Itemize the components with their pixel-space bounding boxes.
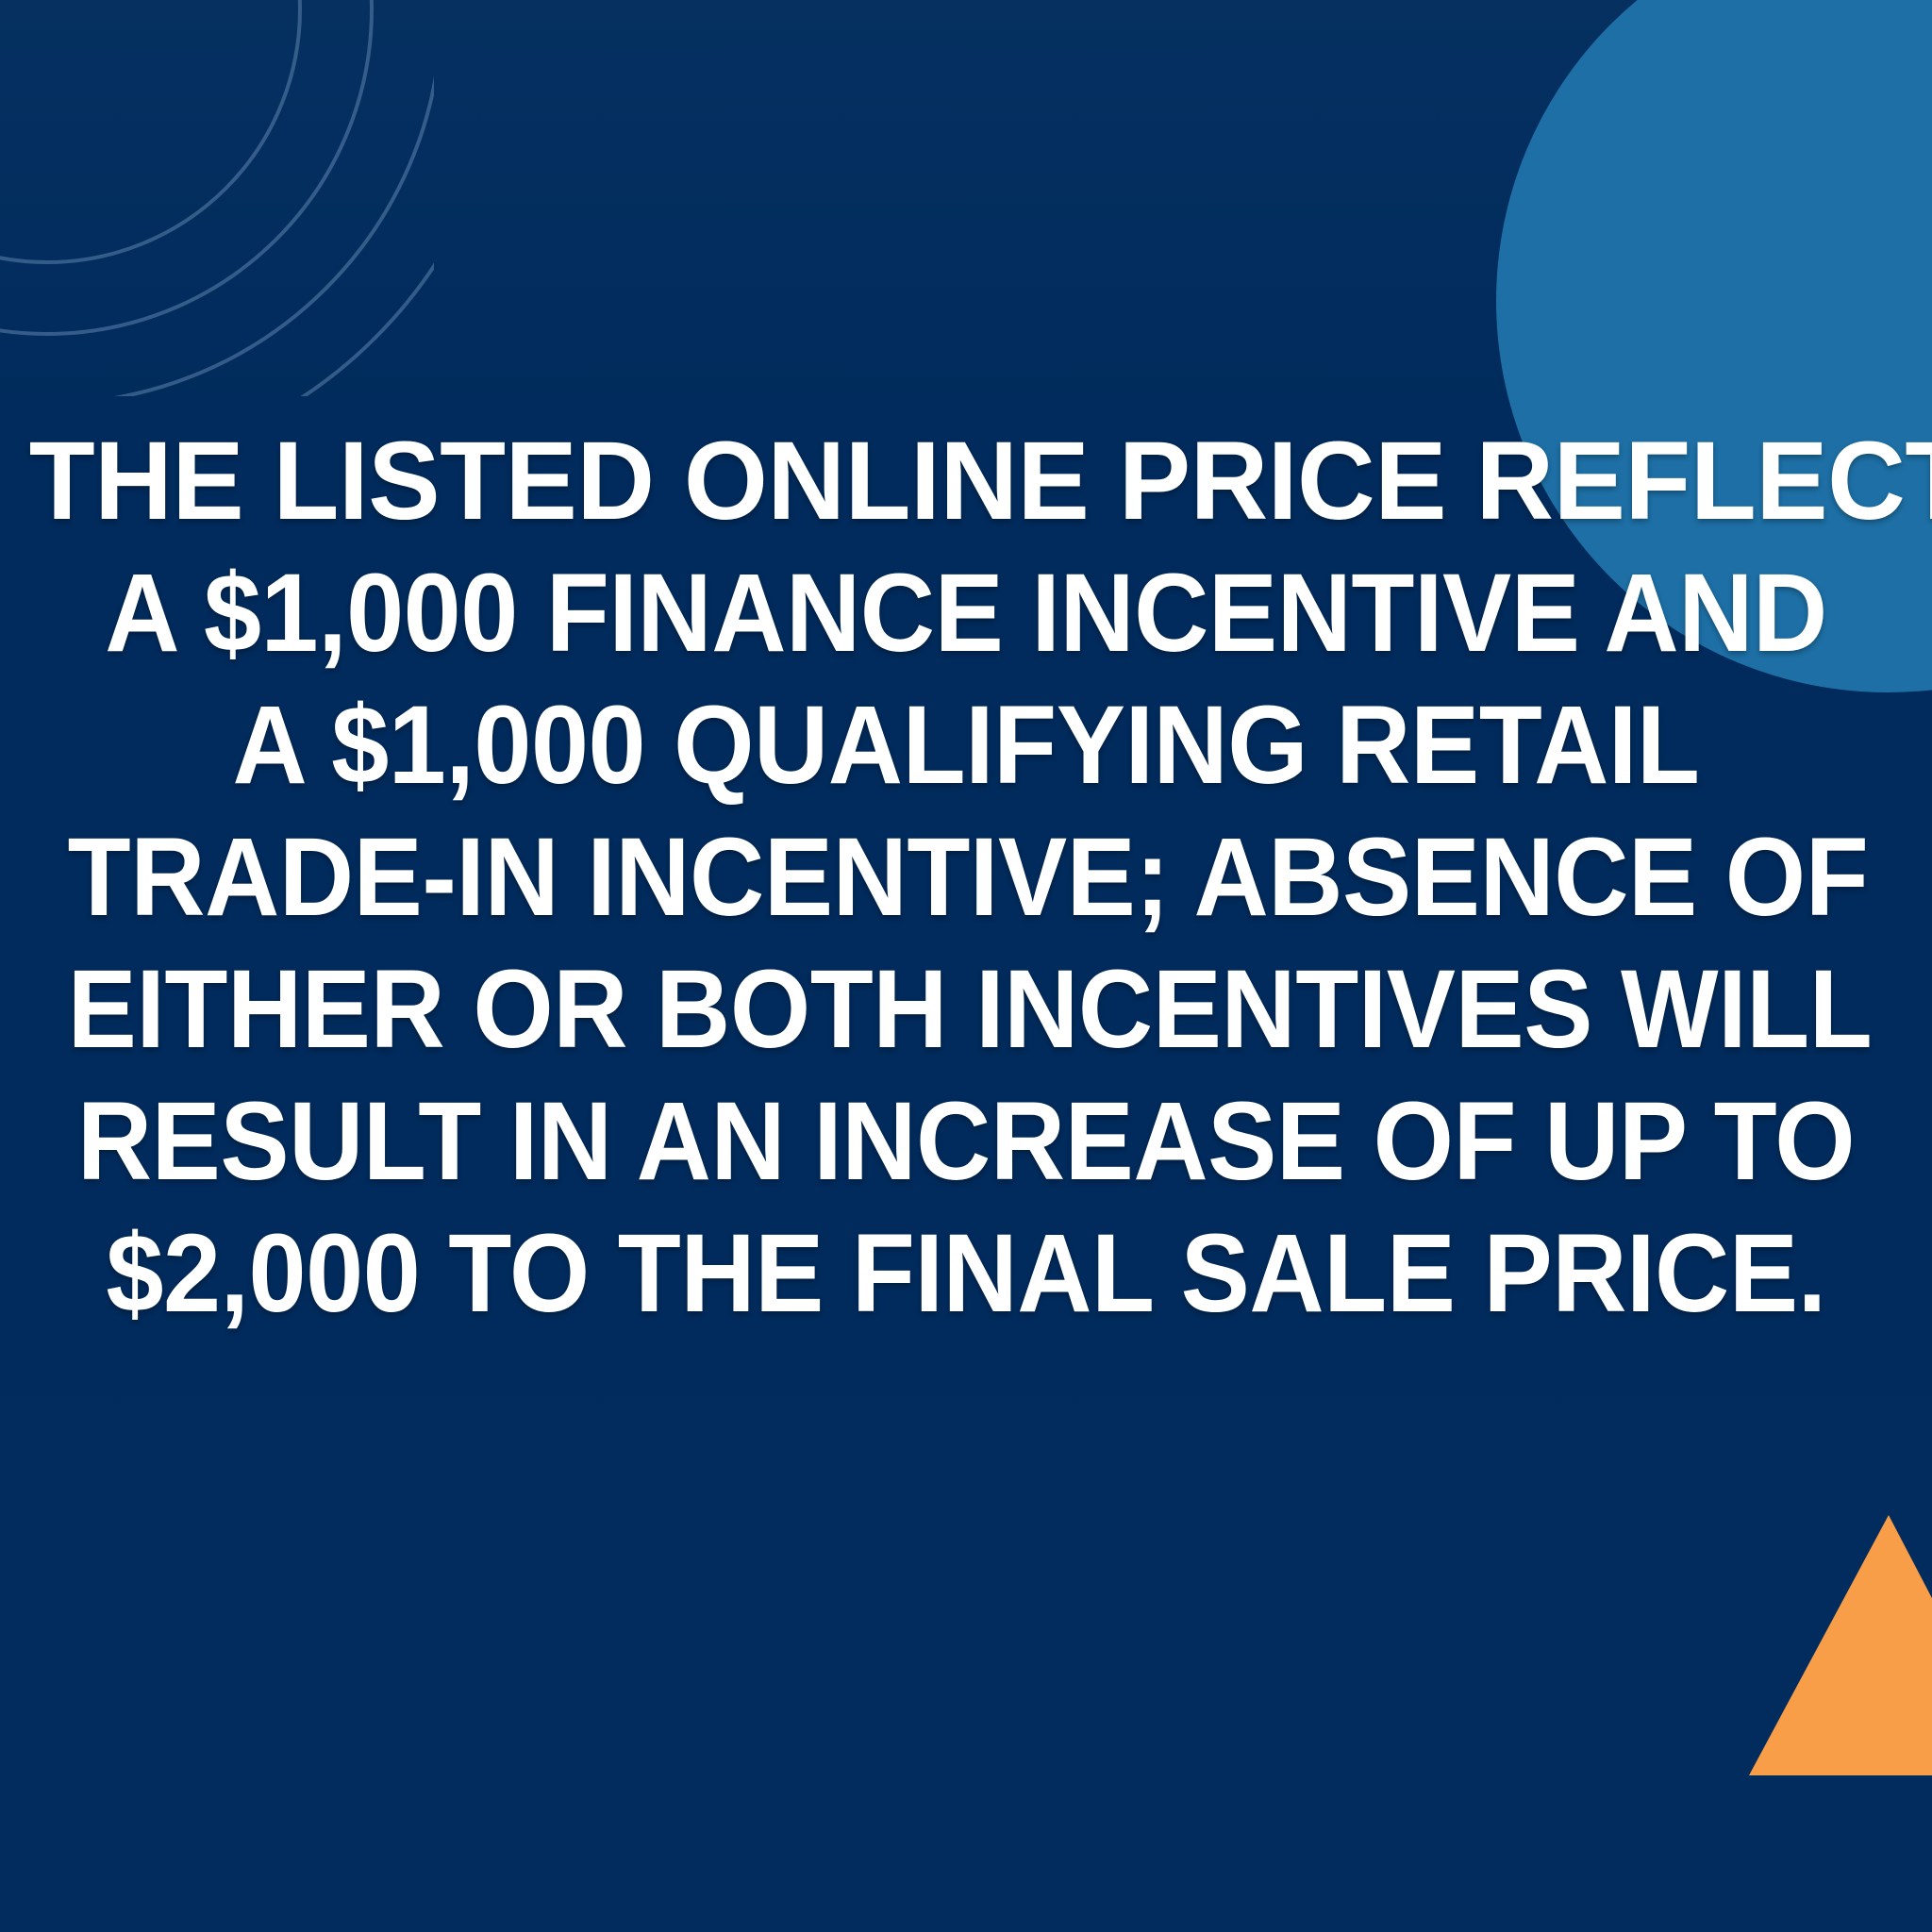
headline-line-6: RESULT IN AN INCREASE OF UP TO — [68, 1075, 1865, 1207]
concentric-arc-rings-icon — [0, 0, 434, 396]
headline-line-1: THE LISTED ONLINE PRICE REFLECTS — [29, 415, 1904, 547]
headline-line-7: $2,000 TO THE FINAL SALE PRICE. — [68, 1207, 1865, 1340]
promotional-disclaimer-slide: THE LISTED ONLINE PRICE REFLECTS A $1,00… — [0, 0, 1932, 1932]
headline-line-4: TRADE-IN INCENTIVE; ABSENCE OF — [68, 811, 1865, 943]
headline-line-2: A $1,000 FINANCE INCENTIVE AND — [68, 547, 1865, 679]
disclaimer-headline: THE LISTED ONLINE PRICE REFLECTS A $1,00… — [0, 415, 1932, 1340]
headline-line-3: A $1,000 QUALIFYING RETAIL — [68, 679, 1865, 811]
headline-line-5: EITHER OR BOTH INCENTIVES WILL — [68, 943, 1865, 1075]
orange-triangle-icon — [1741, 1509, 1932, 1775]
